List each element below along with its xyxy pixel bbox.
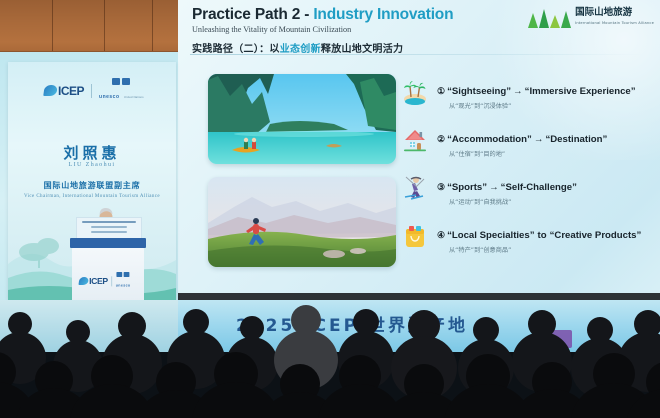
list-item-title: ①“Sightseeing”→“Immersive Experience” <box>437 86 636 97</box>
speaker-title-cn: 国际山地旅游联盟副主席 <box>8 180 176 191</box>
speaker-name-en: LIU Zhaohui <box>8 162 176 168</box>
unesco-blocks-icon <box>99 78 144 85</box>
list-item-title: ③“Sports”→“Self-Challenge” <box>437 182 577 193</box>
speaker-title-en: Vice Chairman, International Mountain To… <box>8 194 176 199</box>
header-divider <box>190 54 645 55</box>
arrow-icon: → <box>513 86 523 97</box>
info-slide-logos: ICEP unesco United Nations <box>44 78 144 103</box>
trail-running-photo <box>208 177 396 267</box>
slide-title: Practice Path 2 - Industry Innovation <box>192 6 552 24</box>
kayaking-lagoon-photo <box>208 74 396 164</box>
arrow-icon: to <box>538 230 547 241</box>
mountain-peaks-icon <box>528 9 571 28</box>
list-item: ④“Local Specialties”to“Creative Products… <box>400 220 652 268</box>
podium-logo-divider <box>111 276 112 286</box>
practice-items-list: ①“Sightseeing”→“Immersive Experience” 从“… <box>400 76 652 268</box>
list-item-cn: 从“运动”到“自我挑战” <box>449 197 577 206</box>
unesco-logo-text: unesco <box>99 94 120 100</box>
list-item-to: “Immersive Experience” <box>525 86 636 97</box>
slide-title-main: Practice Path 2 - <box>192 6 313 23</box>
slide-header: Practice Path 2 - Industry Innovation Un… <box>192 6 552 55</box>
skier-icon <box>400 173 430 203</box>
list-item-text: ③“Sports”→“Self-Challenge” 从“运动”到“自我挑战” <box>437 172 577 206</box>
list-item-cn: 从“特产”到“创意商品” <box>449 245 641 254</box>
audience-silhouettes <box>0 296 660 418</box>
list-item-number: ③ <box>437 182 445 192</box>
list-item-text: ②“Accommodation”→“Destination” 从“住宿”到“目的… <box>437 124 607 158</box>
list-item-text: ④“Local Specialties”to“Creative Products… <box>437 220 641 254</box>
list-item: ②“Accommodation”→“Destination” 从“住宿”到“目的… <box>400 124 652 172</box>
list-item: ①“Sightseeing”→“Immersive Experience” 从“… <box>400 76 652 124</box>
unesco-logo-tagline: United Nations <box>124 96 144 99</box>
speaker-name-cn: 刘照惠 <box>8 142 176 163</box>
list-item-from: “Local Specialties” <box>447 230 534 241</box>
icep-swoosh-icon <box>43 85 58 96</box>
podium-logos: ICEP unesco <box>79 272 131 290</box>
arrow-icon: → <box>534 134 544 145</box>
list-item-text: ①“Sightseeing”→“Immersive Experience” 从“… <box>437 76 636 110</box>
icep-logo-text: ICEP <box>58 84 84 98</box>
list-item-to: “Creative Products” <box>550 230 642 241</box>
list-item-to: “Destination” <box>545 134 607 145</box>
logo-divider <box>91 84 92 98</box>
shopping-bag-icon <box>400 221 430 251</box>
list-item-title: ②“Accommodation”→“Destination” <box>437 134 607 145</box>
podium-sign <box>76 217 142 239</box>
arrow-icon: → <box>489 182 499 193</box>
podium-unesco-blocks-icon <box>116 272 131 277</box>
podium-unesco-text: unesco <box>116 284 131 288</box>
list-item-cn: 从“住宿”到“目的地” <box>449 149 607 158</box>
list-item-title: ④“Local Specialties”to“Creative Products… <box>437 230 641 241</box>
screenshot-root: Practice Path 2 - Industry Innovation Un… <box>0 0 660 418</box>
wood-wall-panel <box>0 0 202 60</box>
imta-name-cn: 国际山地旅游 <box>575 7 632 18</box>
list-item-number: ① <box>437 86 445 96</box>
list-item-number: ② <box>437 134 445 144</box>
slide-title-accent: Industry Innovation <box>313 6 453 23</box>
slide-photos <box>208 74 396 267</box>
imta-logo: 国际山地旅游 International Mountain Tourism Al… <box>528 8 654 28</box>
podium-icep-text: ICEP <box>89 276 108 286</box>
list-item-cn: 从“观光”到“沉浸体验” <box>449 101 636 110</box>
list-item-number: ④ <box>437 230 445 240</box>
imta-name-en: International Mountain Tourism Alliance <box>575 18 654 28</box>
list-item-from: “Accommodation” <box>447 134 532 145</box>
slide-subtitle-cn: 实践路径（二）：以业态创新释放山地文明活力 <box>192 40 552 55</box>
icep-logo: ICEP <box>44 84 84 98</box>
podium-unesco-logo: unesco <box>116 272 131 290</box>
list-item-from: “Sightseeing” <box>447 86 511 97</box>
slide-subtitle-en: Unleashing the Vitality of Mountain Civi… <box>192 25 552 34</box>
unesco-logo: unesco United Nations <box>99 78 144 103</box>
podium-icep-logo: ICEP <box>79 276 108 286</box>
podium-top-band <box>70 238 146 248</box>
house-icon <box>400 125 430 155</box>
list-item-to: “Self-Challenge” <box>501 182 577 193</box>
podium-icep-swoosh-icon <box>78 277 88 285</box>
imta-logo-text: 国际山地旅游 International Mountain Tourism Al… <box>575 8 654 28</box>
island-palm-icon <box>400 77 430 107</box>
list-item: ③“Sports”→“Self-Challenge” 从“运动”到“自我挑战” <box>400 172 652 220</box>
list-item-from: “Sports” <box>447 182 487 193</box>
